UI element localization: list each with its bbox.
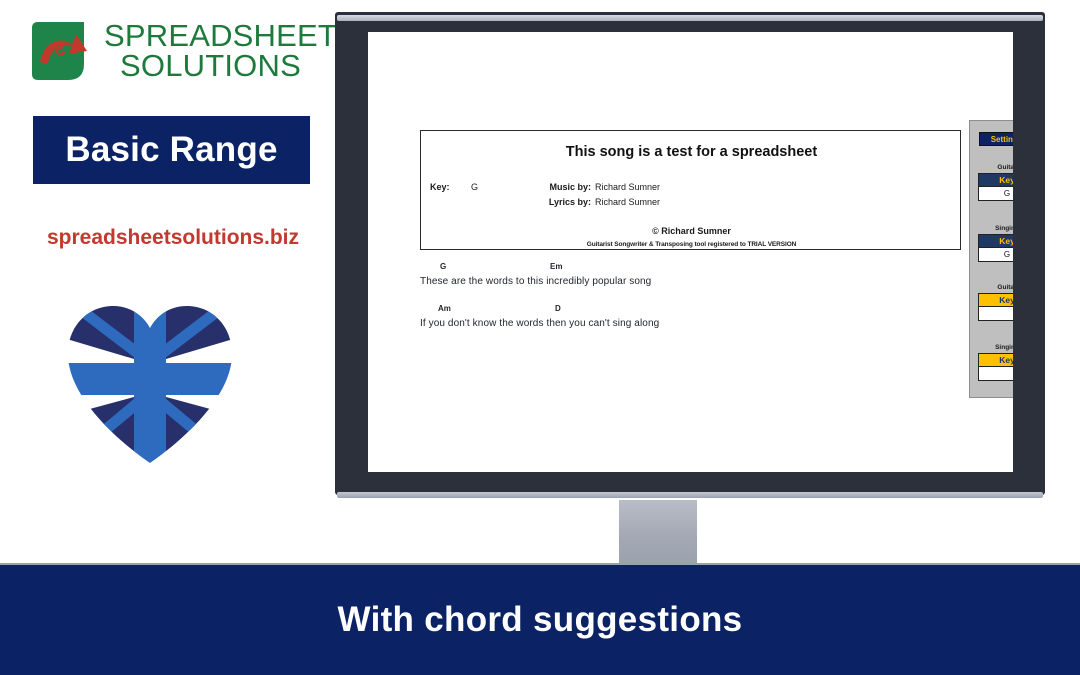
spreadsheet-document: This song is a test for a spreadsheet Ke… <box>368 32 1013 472</box>
key-group-singing-1: Singing Key G <box>978 225 1013 262</box>
credit-name: Richard Sumner <box>595 197 660 207</box>
key-group-guitar-1: Guitar Key G <box>978 164 1013 201</box>
key-group-caption: Singing <box>978 225 1013 232</box>
verse-block: Am D If you don't know the words then yo… <box>420 304 900 329</box>
brand-wordmark: SPREADSHEET SOLUTIONS <box>104 21 337 82</box>
lyric-line: If you don't know the words then you can… <box>420 318 900 329</box>
brand-name-line1: SPREADSHEET <box>104 21 337 51</box>
settings-panel: Settings Guitar Key G Singing Key G Guit… <box>969 120 1013 398</box>
credit-label: Music by: <box>421 182 595 192</box>
key-header: Key <box>978 234 1013 248</box>
spreadsheet-solutions-s-arrow-logo-icon <box>30 20 92 82</box>
chord: G <box>440 262 446 271</box>
key-group-caption: Guitar <box>978 164 1013 171</box>
verse-block: G Em These are the words to this incredi… <box>420 262 900 287</box>
key-header: Key <box>978 353 1013 367</box>
chord: D <box>555 304 561 313</box>
song-title: This song is a test for a spreadsheet <box>421 144 962 160</box>
key-input-cell[interactable] <box>978 307 1013 321</box>
key-group-caption: Guitar <box>978 284 1013 291</box>
key-input-cell[interactable]: G <box>978 248 1013 262</box>
brand-lockup: SPREADSHEET SOLUTIONS <box>30 12 315 90</box>
key-header: Key <box>978 173 1013 187</box>
union-jack-heart-icon <box>60 297 240 465</box>
key-group-singing-2: Singing Key <box>978 344 1013 381</box>
chord: Em <box>550 262 562 271</box>
chord-line: Am D <box>420 304 900 318</box>
website-url[interactable]: spreadsheetsolutions.biz <box>33 226 313 250</box>
monitor-stand <box>619 500 697 572</box>
key-group-caption: Singing <box>978 344 1013 351</box>
bottom-banner: With chord suggestions <box>0 565 1080 675</box>
credit-name: Richard Sumner <box>595 182 660 192</box>
registration-line: Guitarist Songwriter & Transposing tool … <box>421 241 962 248</box>
computer-monitor: This song is a test for a spreadsheet Ke… <box>335 5 1045 500</box>
key-group-guitar-2: Guitar Key <box>978 284 1013 321</box>
credit-row-lyrics: Lyrics by:Richard Sumner <box>421 197 962 207</box>
credit-row-music: Music by:Richard Sumner <box>421 182 962 192</box>
monitor-bezel-highlight <box>337 15 1043 21</box>
copyright-line: © Richard Sumner <box>421 226 962 236</box>
brand-name-line2: SOLUTIONS <box>104 51 337 81</box>
chord-line: G Em <box>420 262 900 276</box>
basic-range-label: Basic Range <box>65 130 277 170</box>
basic-range-badge: Basic Range <box>33 116 310 184</box>
key-input-cell[interactable]: G <box>978 187 1013 201</box>
bottom-banner-text: With chord suggestions <box>338 600 743 640</box>
settings-button[interactable]: Settings <box>979 132 1013 146</box>
left-branding-column: SPREADSHEET SOLUTIONS Basic Range spread… <box>0 0 335 565</box>
song-header-table: This song is a test for a spreadsheet Ke… <box>420 130 961 250</box>
chord: Am <box>438 304 451 313</box>
monitor-screen: This song is a test for a spreadsheet Ke… <box>368 32 1013 472</box>
key-header: Key <box>978 293 1013 307</box>
lyric-line: These are the words to this incredibly p… <box>420 276 900 287</box>
monitor-bezel-base-edge <box>337 492 1043 498</box>
credit-label: Lyrics by: <box>421 197 595 207</box>
key-input-cell[interactable] <box>978 367 1013 381</box>
